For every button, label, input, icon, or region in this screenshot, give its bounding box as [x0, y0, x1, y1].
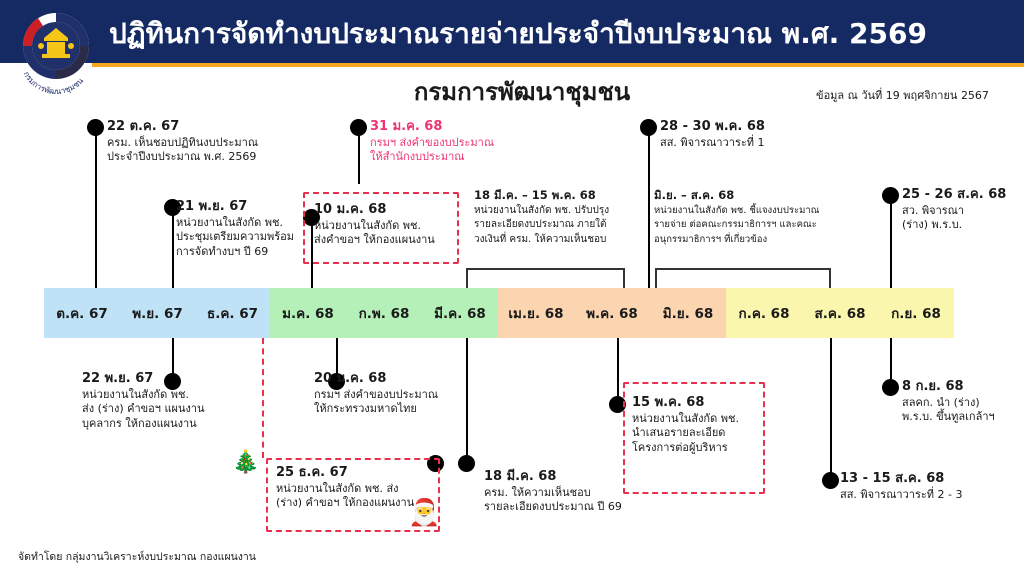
connector-13-15aug68: [830, 338, 832, 478]
connector-15may68: [617, 338, 619, 404]
note-line-22nov67-1: ส่ง (ร่าง) คำขอฯ แผนงาน: [82, 402, 272, 417]
note-line-10jan68-0: หน่วยงานในสังกัด พช.: [314, 219, 464, 234]
note-line-8sep68-0: สลคก. นำ (ร่าง): [902, 396, 1024, 411]
note-line-15may68-1: นำเสนอรายละเอียด: [632, 426, 772, 441]
note-line-18mar68-1: รายละเอียดงบประมาณ ปี 69: [484, 500, 684, 515]
note-line-15may68-2: โครงการต่อผู้บริหาร: [632, 441, 772, 456]
note-date-31jan68: 31 ม.ค. 68: [370, 120, 550, 135]
note-line-25dec67-0: หน่วยงานในสังกัด พช. ส่ง: [276, 482, 446, 497]
note-date-15may68: 15 พ.ค. 68: [632, 396, 772, 411]
bracket-jun-aug-right: [829, 268, 831, 288]
timeline-month-6[interactable]: เม.ย. 68: [498, 288, 574, 338]
note-date-28-30may68: 28 - 30 พ.ค. 68: [660, 120, 840, 135]
note-line-20jan68-1: ให้กระทรวงมหาดไทย: [314, 402, 504, 417]
timeline-month-1[interactable]: พ.ย. 67: [120, 288, 195, 338]
connector-28may68: [648, 128, 650, 288]
note-line-22nov67-0: หน่วยงานในสังกัด พช.: [82, 388, 272, 403]
note-date-25-26aug68: 25 - 26 ส.ค. 68: [902, 188, 1024, 203]
note-line-13-15aug68-0: สส. พิจารณาวาระที่ 2 - 3: [840, 488, 1024, 503]
note-line-10jan68-1: ส่งคำขอฯ ให้กองแผนงาน: [314, 233, 464, 248]
page-title: ปฏิทินการจัดทำงบประมาณรายจ่ายประจำปีงบปร…: [108, 14, 928, 58]
department-subtitle: กรมการพัฒนาชุมชน: [262, 72, 782, 111]
bracket-jun-aug-left: [655, 268, 657, 288]
bracket-mar-may-top: [466, 268, 624, 270]
marker-22oct67: [87, 119, 104, 136]
timeline-month-8[interactable]: มิ.ย. 68: [650, 288, 726, 338]
note-18mar-15may68: 18 มี.ค. – 15 พ.ค. 68 หน่วยงานในสังกัด พ…: [474, 188, 644, 247]
timeline-month-0[interactable]: ต.ค. 67: [44, 288, 120, 338]
timeline-month-7[interactable]: พ.ค. 68: [574, 288, 650, 338]
note-date-13-15aug68: 13 - 15 ส.ค. 68: [840, 472, 1024, 487]
marker-13-15aug68: [822, 472, 839, 489]
note-date-8sep68: 8 ก.ย. 68: [902, 380, 1024, 395]
christmas-wreath-icon: 🎄: [232, 452, 259, 474]
note-line-18mar-15may68-1: รายละเอียดงบประมาณ ภายใต้: [474, 218, 644, 233]
marker-18mar68: [458, 455, 475, 472]
timeline-month-10[interactable]: ส.ค. 68: [802, 288, 878, 338]
note-line-jun-aug68-0: หน่วยงานในสังกัด พช. ชี้แจงงบประมาณ: [654, 204, 854, 219]
timeline-month-4[interactable]: ก.พ. 68: [346, 288, 422, 338]
cdd-emblem-logo: พช กรมการพัฒนาชุมชน: [10, 6, 102, 94]
note-line-jun-aug68-1: รายจ่าย ต่อคณะกรรมาธิการฯ และคณะ: [654, 218, 854, 233]
note-15may68: 15 พ.ค. 68 หน่วยงานในสังกัด พช. นำเสนอรา…: [632, 396, 772, 455]
note-date-22oct67: 22 ต.ค. 67: [107, 120, 317, 135]
note-line-22nov67-2: บุคลากร ให้กองแผนงาน: [82, 417, 272, 432]
note-line-25-26aug68-1: (ร่าง) พ.ร.บ.: [902, 218, 1024, 233]
note-date-10jan68: 10 ม.ค. 68: [314, 203, 464, 218]
note-jun-aug68: มิ.ย. – ส.ค. 68 หน่วยงานในสังกัด พช. ชี้…: [654, 188, 854, 247]
note-date-22nov67: 22 พ.ย. 67: [82, 372, 272, 387]
bracket-mar-may-left: [466, 268, 468, 288]
note-date-25dec67: 25 ธ.ค. 67: [276, 466, 446, 481]
note-31jan68: 31 ม.ค. 68 กรมฯ ส่งคำของบประมาณ ให้สำนัก…: [370, 120, 550, 165]
note-25-26aug68: 25 - 26 ส.ค. 68 สว. พิจารณา (ร่าง) พ.ร.บ…: [902, 188, 1024, 233]
note-line-18mar-15may68-2: วงเงินที่ ครม. ให้ความเห็นชอบ: [474, 233, 644, 248]
note-13-15aug68: 13 - 15 ส.ค. 68 สส. พิจารณาวาระที่ 2 - 3: [840, 472, 1024, 502]
connector-22oct67: [95, 128, 97, 288]
note-line-31jan68-1: ให้สำนักงบประมาณ: [370, 150, 550, 165]
marker-8sep68: [882, 379, 899, 396]
note-line-31jan68-0: กรมฯ ส่งคำของบประมาณ: [370, 136, 550, 151]
timeline-month-9[interactable]: ก.ค. 68: [726, 288, 802, 338]
note-date-20jan68: 20 ม.ค. 68: [314, 372, 504, 387]
timeline-month-11[interactable]: ก.ย. 68: [878, 288, 954, 338]
note-28-30may68: 28 - 30 พ.ค. 68 สส. พิจารณาวาระที่ 1: [660, 120, 840, 150]
note-line-20jan68-0: กรมฯ ส่งคำของบประมาณ: [314, 388, 504, 403]
note-line-22oct67-1: ประจำปีงบประมาณ พ.ศ. 2569: [107, 150, 317, 165]
footer-credit: จัดทำโดย กลุ่มงานวิเคราะห์งบประมาณ กองแผ…: [18, 548, 256, 565]
note-line-jun-aug68-2: อนุกรรมาธิการฯ ที่เกี่ยวข้อง: [654, 233, 854, 248]
timeline-month-3[interactable]: ม.ค. 68: [270, 288, 346, 338]
note-10jan68: 10 ม.ค. 68 หน่วยงานในสังกัด พช. ส่งคำขอฯ…: [314, 203, 464, 248]
timeline-bar: ต.ค. 67 พ.ย. 67 ธ.ค. 67 ม.ค. 68 ก.พ. 68 …: [44, 288, 954, 338]
timeline-month-2[interactable]: ธ.ค. 67: [195, 288, 270, 338]
marker-28may68: [640, 119, 657, 136]
note-date-18mar-15may68: 18 มี.ค. – 15 พ.ค. 68: [474, 188, 644, 203]
connector-31jan68: [358, 128, 360, 184]
infographic-canvas: พช กรมการพัฒนาชุมชน ปฏิทินการจัดทำงบประม…: [0, 0, 1024, 576]
data-as-of-stamp: ข้อมูล ณ วันที่ 19 พฤศจิกายน 2567: [790, 86, 1015, 104]
note-line-28-30may68-0: สส. พิจารณาวาระที่ 1: [660, 136, 840, 151]
note-22oct67: 22 ต.ค. 67 ครม. เห็นชอบปฏิทินงบประมาณ ปร…: [107, 120, 317, 165]
bracket-mar-may-right: [623, 268, 625, 288]
note-line-22oct67-0: ครม. เห็นชอบปฏิทินงบประมาณ: [107, 136, 317, 151]
marker-25aug68: [882, 187, 899, 204]
note-line-18mar-15may68-0: หน่วยงานในสังกัด พช. ปรับปรุง: [474, 204, 644, 219]
svg-text:พช: พช: [48, 43, 64, 57]
note-line-8sep68-1: พ.ร.บ. ขึ้นทูลเกล้าฯ: [902, 410, 1024, 425]
note-line-25-26aug68-0: สว. พิจารณา: [902, 204, 1024, 219]
note-8sep68: 8 ก.ย. 68 สลคก. นำ (ร่าง) พ.ร.บ. ขึ้นทูล…: [902, 380, 1024, 425]
bracket-jun-aug-top: [655, 268, 830, 270]
header-accent-line: [92, 63, 1024, 67]
marker-31jan68: [350, 119, 367, 136]
note-date-jun-aug68: มิ.ย. – ส.ค. 68: [654, 188, 854, 203]
note-22nov67: 22 พ.ย. 67 หน่วยงานในสังกัด พช. ส่ง (ร่า…: [82, 372, 272, 431]
santa-icon: 🎅: [408, 500, 440, 526]
timeline-month-5[interactable]: มี.ค. 68: [422, 288, 498, 338]
note-line-15may68-0: หน่วยงานในสังกัด พช.: [632, 412, 772, 427]
connector-25aug68: [890, 196, 892, 288]
note-20jan68: 20 ม.ค. 68 กรมฯ ส่งคำของบประมาณ ให้กระทร…: [314, 372, 504, 417]
connector-21nov67: [172, 208, 174, 288]
